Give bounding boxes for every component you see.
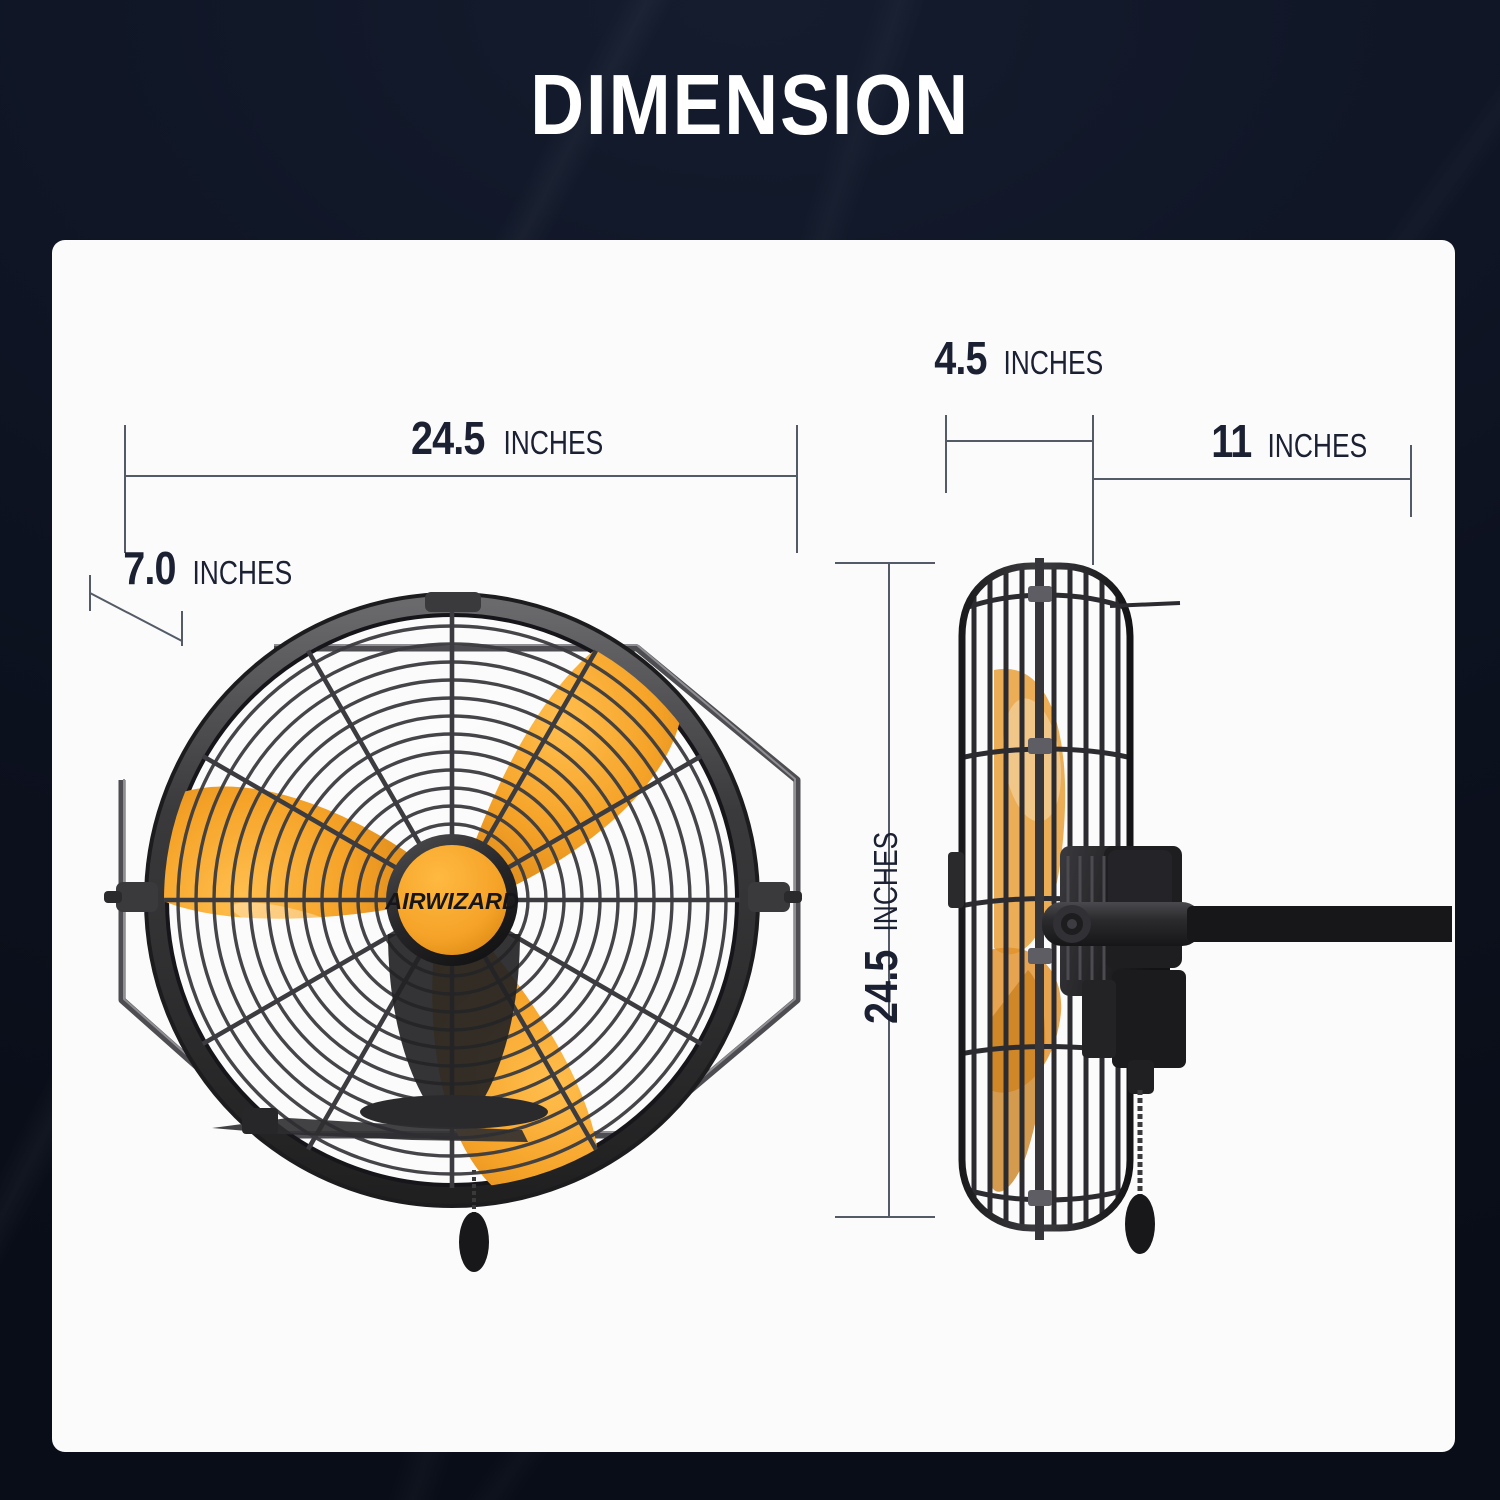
fan-side-view <box>932 550 1452 1270</box>
wall-mount-arm <box>1042 902 1452 946</box>
dim-height-unit: INCHES <box>869 832 902 932</box>
dim-arm-value: 11 <box>1211 418 1251 464</box>
brand-logo-text: AIRWIZARD <box>384 888 519 914</box>
dim-front-width-line <box>124 475 798 477</box>
cage-split-bar <box>1035 558 1044 1240</box>
dim-height-label: 24.5INCHES <box>858 820 904 1030</box>
dim-side-depth-tick-right <box>1092 415 1094 565</box>
dim-side-depth-value: 4.5 <box>934 335 986 381</box>
dim-height-cap-top <box>835 562 935 564</box>
dim-arm-tick-right <box>1410 445 1412 517</box>
diagram-panel: 24.5INCHES 7.0INCHES <box>52 240 1455 1452</box>
side-tilt-knob <box>948 852 964 908</box>
dim-front-width-unit: INCHES <box>503 426 603 459</box>
cage-top-tab <box>425 592 481 612</box>
dim-front-width-value: 24.5 <box>411 415 485 461</box>
tilt-knob-left <box>104 882 158 912</box>
dim-side-depth-label: 4.5INCHES <box>930 335 1116 381</box>
dim-height-value: 24.5 <box>858 950 904 1024</box>
dim-side-depth-unit: INCHES <box>1003 346 1103 379</box>
fan-front-view: AIRWIZARD <box>92 530 832 1320</box>
control-box <box>1082 970 1186 1094</box>
pull-chain-knob <box>459 1212 489 1272</box>
dim-height-cap-bottom <box>835 1216 935 1218</box>
page-title: DIMENSION <box>90 63 1410 148</box>
dim-arm-unit: INCHES <box>1267 429 1367 462</box>
dim-side-depth-line <box>945 440 1094 442</box>
dim-arm-label: 11INCHES <box>1208 418 1379 464</box>
dim-arm-line <box>1092 478 1412 480</box>
dim-front-width-label: 24.5INCHES <box>405 415 615 461</box>
pull-chain-knob-side <box>1125 1194 1155 1254</box>
dim-side-depth-tick-left <box>945 415 947 493</box>
